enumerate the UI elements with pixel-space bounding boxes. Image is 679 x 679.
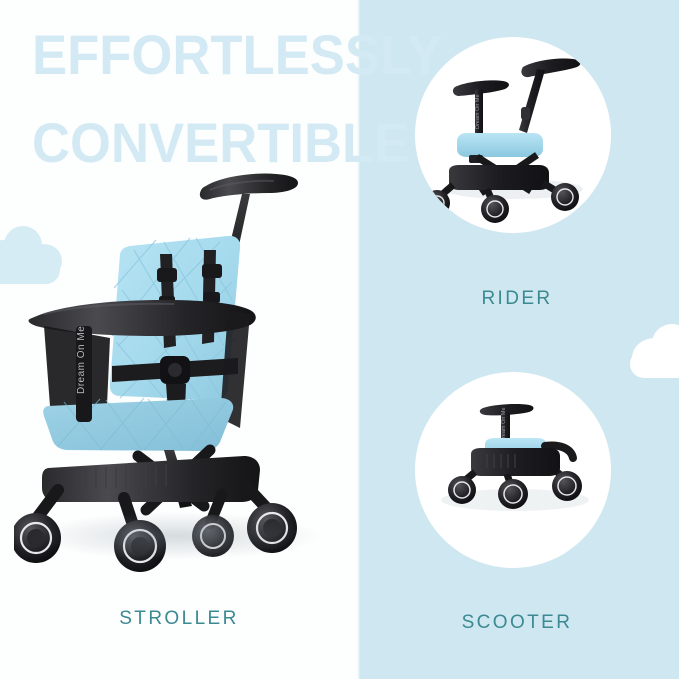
brand-text-rider: Dream On Me	[475, 94, 481, 129]
caption-scooter: SCOOTER	[355, 612, 679, 634]
brand-logo: Dream On Me	[76, 326, 92, 422]
product-image-rider: Dream On Me	[415, 37, 611, 233]
wheel	[551, 183, 579, 211]
scooter-illustration: Dream On Me	[415, 372, 611, 568]
rider-illustration: Dream On Me	[415, 37, 611, 233]
wheel	[192, 515, 234, 557]
wheel	[247, 503, 297, 553]
product-image-stroller: Dream On Me	[14, 150, 344, 580]
stroller-wheels	[14, 503, 297, 572]
caption-rider: RIDER	[355, 288, 679, 310]
wheel	[498, 479, 528, 509]
product-image-scooter: Dream On Me	[415, 372, 611, 568]
wheel	[448, 476, 476, 504]
caption-stroller: STROLLER	[0, 608, 358, 630]
wheel	[14, 513, 61, 563]
stroller-seat-base	[43, 398, 233, 451]
stroller-illustration: Dream On Me	[14, 150, 344, 580]
wheel	[114, 520, 166, 572]
panel-divider	[356, 0, 360, 679]
wheel	[552, 471, 582, 501]
promo-image: EFFORTLESSLY CONVERTIBLE	[0, 0, 679, 679]
brand-text-scooter: Dream On Me	[501, 407, 507, 442]
stroller-frame	[34, 450, 274, 528]
wheel	[481, 195, 509, 223]
brand-text: Dream On Me	[76, 326, 87, 394]
